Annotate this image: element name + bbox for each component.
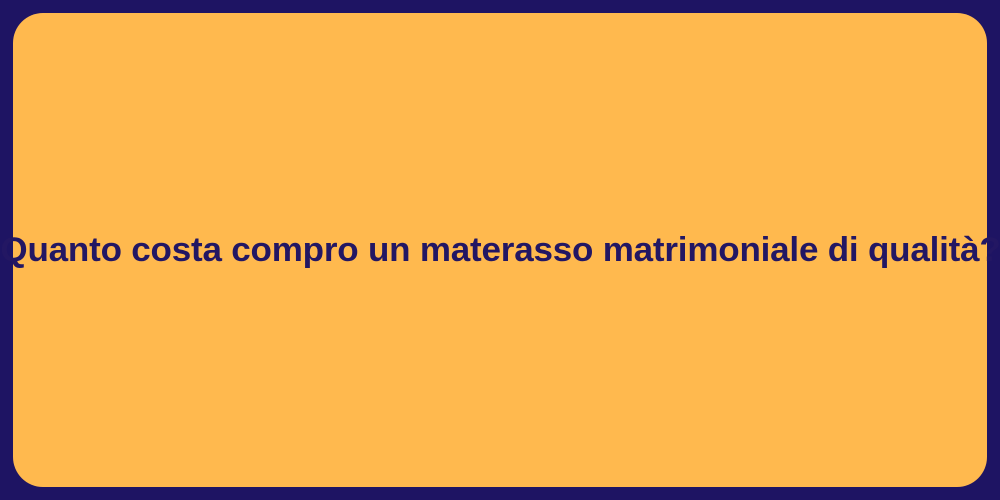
page-frame: Quanto costa compro un materasso matrimo… [0,0,1000,500]
headline-text: Quanto costa compro un materasso matrimo… [0,229,1000,272]
question-card: Quanto costa compro un materasso matrimo… [13,13,987,487]
